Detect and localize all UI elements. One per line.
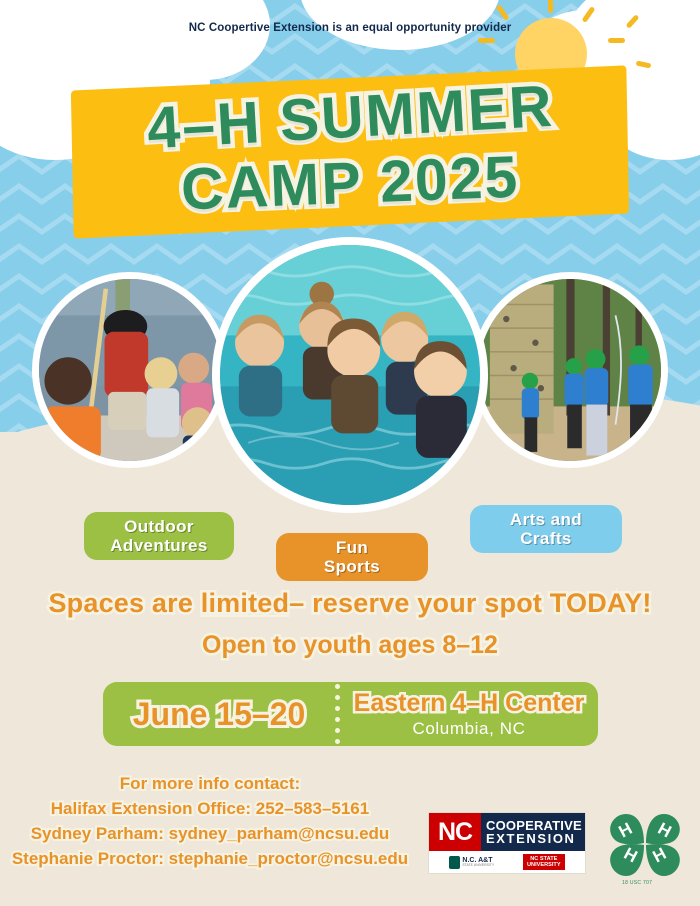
photo-girls-in-swimming-pool xyxy=(212,237,488,513)
badge-line-2: Crafts xyxy=(520,529,572,548)
nc-at-wordmark: N.C. A&T STATE UNIVERSITY xyxy=(462,857,494,867)
nc-cooperative-extension-logo: NC COOPERATIVE EXTENSION N.C. A&T STATE … xyxy=(428,812,586,874)
logo-extension-wordmark: COOPERATIVE EXTENSION xyxy=(481,813,585,851)
nc-state-logo: NC STATE UNIVERSITY xyxy=(523,854,565,871)
date-location-bar: June 15–20 Eastern 4–H Center Columbia, … xyxy=(103,682,598,746)
promo-line-2: Open to youth ages 8–12 xyxy=(0,631,700,660)
location-cell: Eastern 4–H Center Columbia, NC xyxy=(340,689,598,739)
contact-office[interactable]: Halifax Extension Office: 252–583–5161 xyxy=(0,799,420,819)
usc-notice: 18 USC 707 xyxy=(622,880,692,886)
badge-line-1: Outdoor xyxy=(124,517,194,536)
contact-person-2[interactable]: Stephanie Proctor: stephanie_proctor@ncs… xyxy=(0,849,420,869)
promo-pre: Spaces are xyxy=(48,588,200,618)
title-banner xyxy=(71,65,629,238)
badge-line-1: Arts and xyxy=(510,510,582,529)
venue-city: Columbia, NC xyxy=(412,719,525,739)
promo-line-1: Spaces are limited– reserve your spot TO… xyxy=(0,588,700,619)
badge-line-1: Fun xyxy=(336,538,368,557)
photo-kids-fishing-at-dock xyxy=(32,272,228,468)
badge-outdoor-adventures[interactable]: Outdoor Adventures xyxy=(84,512,234,560)
logo-line-extension: EXTENSION xyxy=(486,832,576,845)
nc-at-sub: STATE UNIVERSITY xyxy=(462,864,494,867)
aggie-shield-icon xyxy=(449,856,460,869)
promo-underlined: limited xyxy=(201,588,289,618)
contact-heading: For more info contact: xyxy=(0,774,420,794)
venue-name: Eastern 4–H Center xyxy=(354,689,585,718)
four-h-clover-icon: H H H H xyxy=(604,808,686,882)
contact-person-1[interactable]: Sydney Parham: sydney_parham@ncsu.edu xyxy=(0,824,420,844)
promo-block: Spaces are limited– reserve your spot TO… xyxy=(0,588,700,660)
flyer-canvas: NC Coopertive Extension is an equal oppo… xyxy=(0,0,700,906)
equal-opportunity-notice: NC Coopertive Extension is an equal oppo… xyxy=(0,22,700,34)
badge-fun-sports[interactable]: Fun Sports xyxy=(276,533,428,581)
nc-state-line-2: UNIVERSITY xyxy=(527,862,561,868)
badge-line-2: Adventures xyxy=(110,536,208,555)
camp-dates: June 15–20 xyxy=(133,696,306,733)
date-cell: June 15–20 xyxy=(103,696,335,733)
contact-block: For more info contact: Halifax Extension… xyxy=(0,774,420,869)
badge-arts-and-crafts[interactable]: Arts and Crafts xyxy=(470,505,622,553)
promo-post: – reserve your spot TODAY! xyxy=(289,588,651,618)
logo-nc-mark: NC xyxy=(429,813,481,851)
badge-line-2: Sports xyxy=(324,557,380,576)
nc-at-logo: N.C. A&T STATE UNIVERSITY xyxy=(449,856,494,869)
photo-teens-at-climbing-wall xyxy=(472,272,668,468)
